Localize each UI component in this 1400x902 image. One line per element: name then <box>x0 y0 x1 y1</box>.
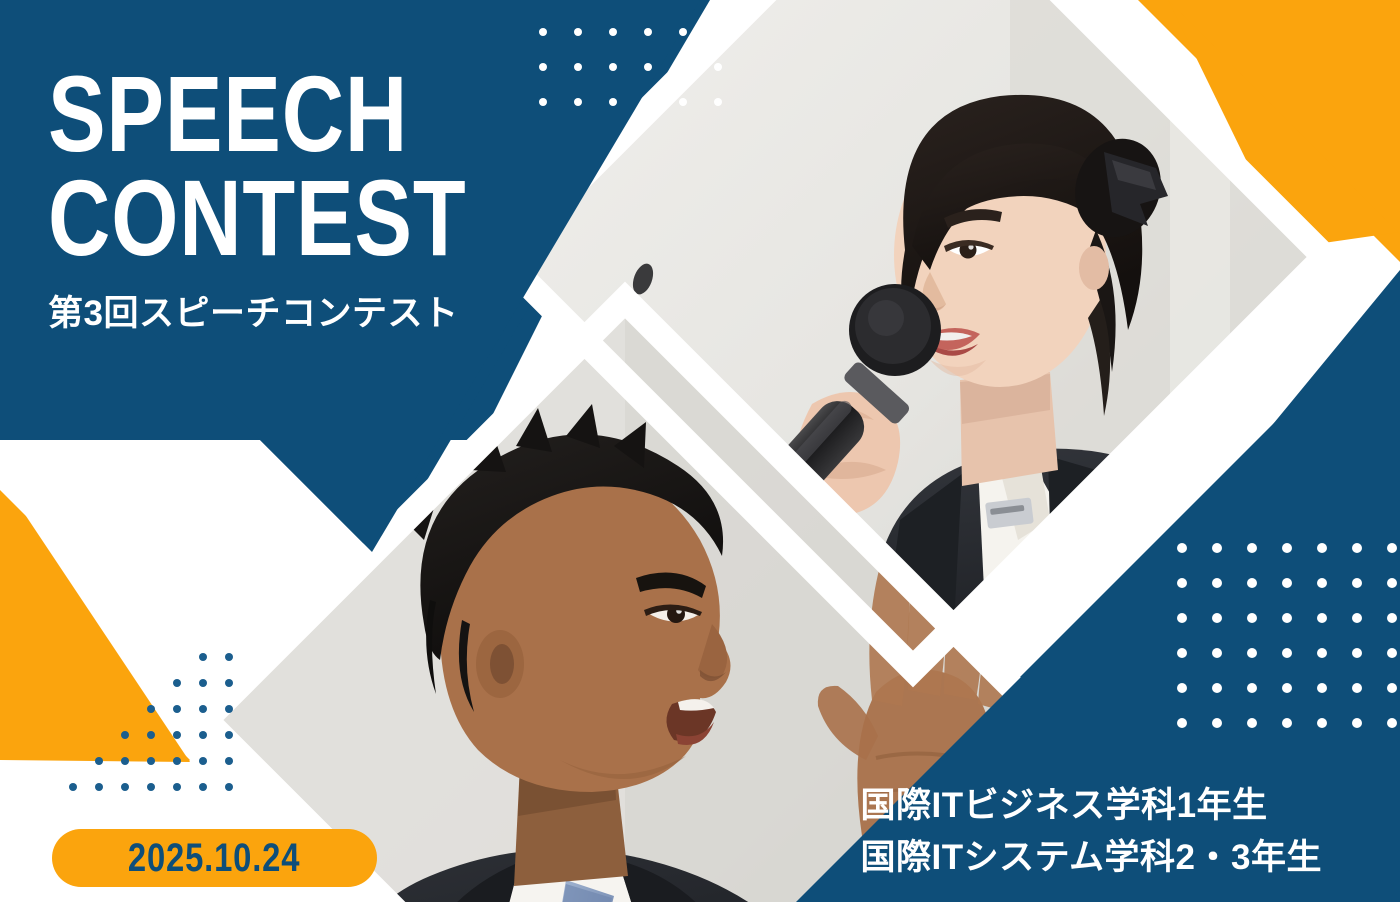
department-line-1: 国際ITビジネス学科1年生 <box>861 780 1323 832</box>
background-shapes <box>0 0 1400 902</box>
date-badge: 2025.10.24 <box>52 829 377 887</box>
department-block: 国際ITビジネス学科1年生 国際ITシステム学科2・3年生 <box>861 780 1323 884</box>
department-line-2: 国際ITシステム学科2・3年生 <box>861 832 1323 884</box>
speech-contest-poster: SPEECH CONTEST 第3回スピーチコンテスト 2025.10.24 国… <box>0 0 1400 902</box>
date-badge-label: 2025.10.24 <box>128 836 300 881</box>
